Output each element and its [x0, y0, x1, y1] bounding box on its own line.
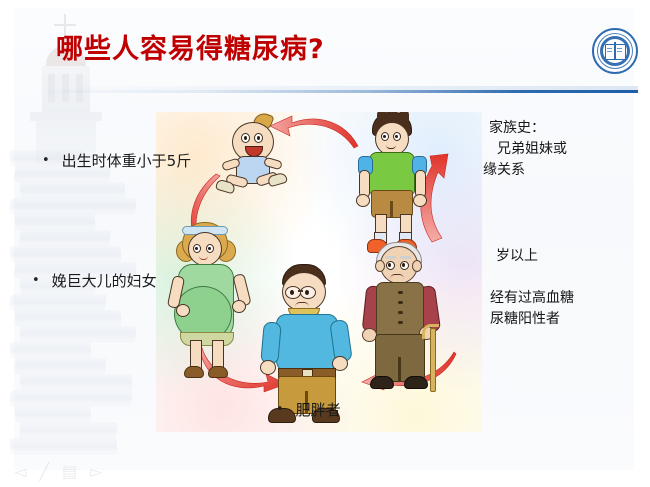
- right-text-hyperglycemia-history: 经有过高血糖: [490, 288, 574, 309]
- bullet-text: 肥胖者: [296, 401, 341, 420]
- next-slide-icon[interactable]: ▻: [90, 462, 102, 481]
- diabetes-risk-lifecycle-illustration: [156, 112, 482, 432]
- figure-elderly-man: [360, 240, 454, 412]
- university-seal-logo: [592, 28, 638, 74]
- bullet-macrosomia-mother: • 娩巨大儿的妇女: [32, 272, 157, 291]
- slide-title: 哪些人容易得糖尿病?: [56, 27, 325, 66]
- figure-boy: [352, 112, 434, 254]
- right-text-age-above: 岁以上: [496, 246, 538, 267]
- figure-pregnant-woman: [164, 220, 260, 390]
- right-text-family-history-label: 家族史：: [489, 118, 545, 139]
- figure-baby: [218, 118, 304, 198]
- pen-tool-icon[interactable]: ╱: [39, 462, 49, 481]
- bullet-marker: •: [276, 401, 284, 419]
- previous-slide-icon[interactable]: ◅: [14, 462, 26, 481]
- open-book-icon: [605, 44, 625, 58]
- bullet-text: 出生时体重小于5斤: [62, 152, 192, 171]
- title-divider-line: [34, 90, 638, 93]
- right-text-relation: 缘关系: [483, 160, 525, 181]
- presentation-slide: 哪些人容易得糖尿病?: [0, 0, 650, 487]
- bullet-text: 娩巨大儿的妇女: [52, 272, 157, 291]
- right-text-siblings: 兄弟姐妹或: [497, 139, 567, 160]
- stacked-books-watermark-image: [10, 150, 140, 460]
- bullet-obese: • 肥胖者: [276, 401, 341, 420]
- presentation-nav-toolbar[interactable]: ◅ ╱ ▤ ▻: [14, 462, 102, 481]
- bullet-marker: •: [42, 152, 50, 170]
- bullet-birth-weight: • 出生时体重小于5斤: [42, 152, 191, 171]
- slide-menu-icon[interactable]: ▤: [62, 462, 77, 481]
- right-text-glycosuria-positive: 尿糖阳性者: [490, 309, 560, 330]
- bullet-marker: •: [32, 272, 40, 290]
